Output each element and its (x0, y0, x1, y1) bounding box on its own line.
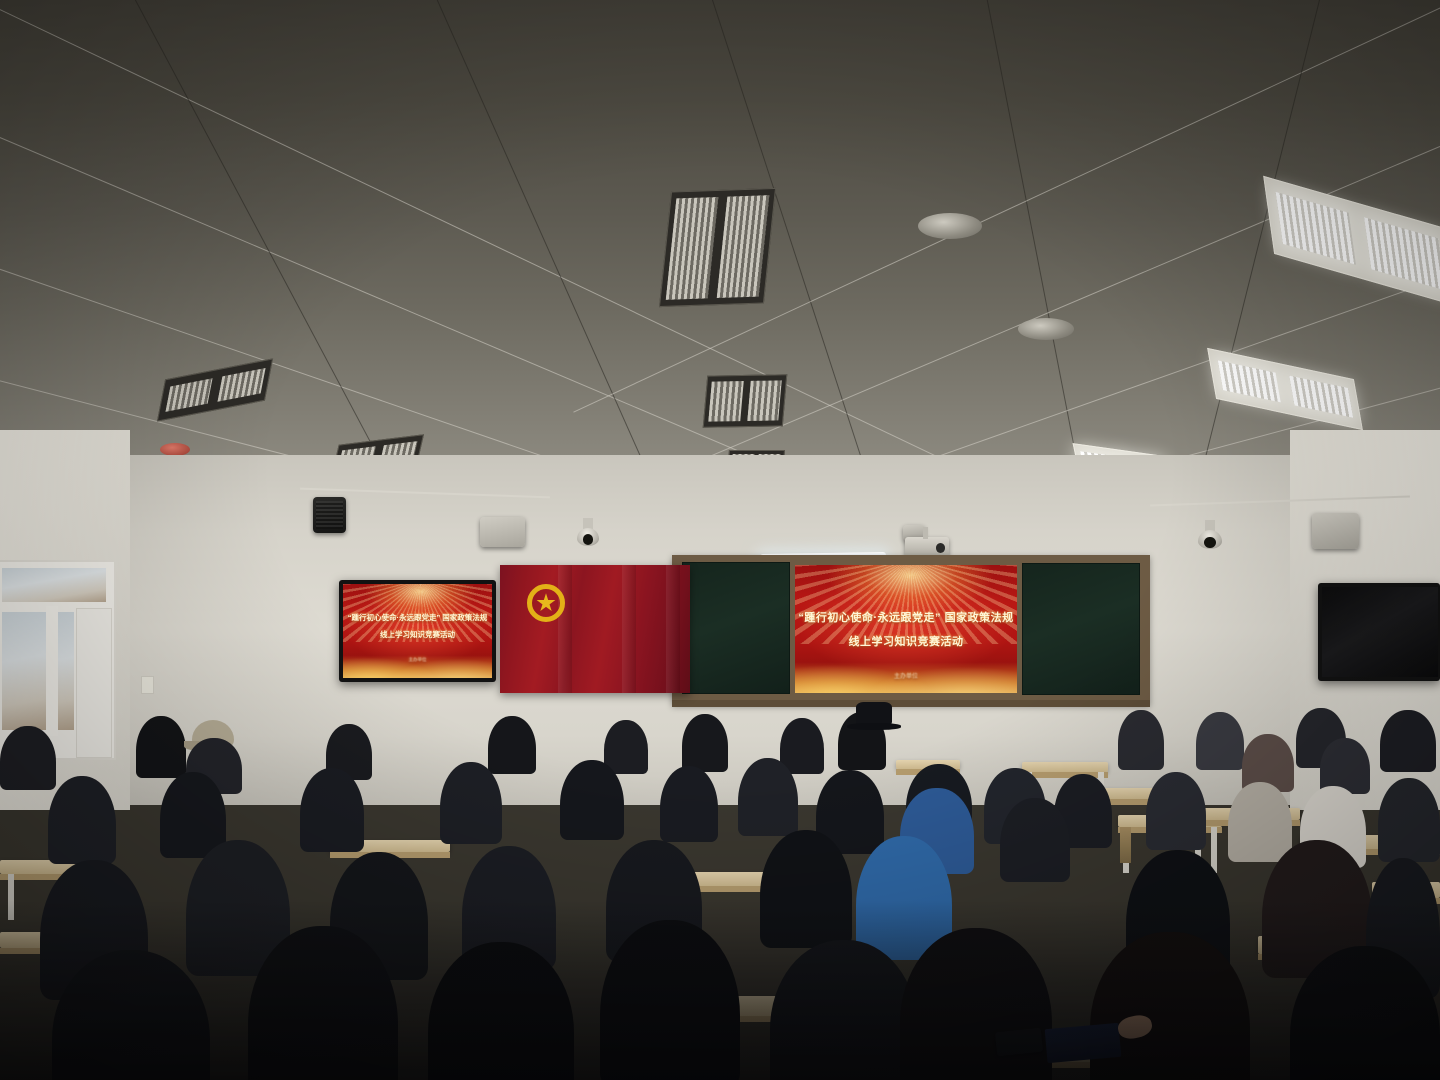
student (738, 758, 798, 836)
notebook (1045, 1023, 1122, 1063)
right-board-panel (1022, 563, 1140, 695)
youth-league-flag (500, 565, 690, 693)
ceiling-grid-line (0, 0, 998, 486)
dome-security-camera (1198, 520, 1222, 549)
student (440, 762, 502, 844)
student (48, 776, 116, 864)
wall-monitor-screen (1322, 587, 1438, 677)
smoke-detector (918, 213, 982, 239)
left-board-panel (682, 562, 790, 694)
wall-led-display-screen: “踵行初心使命·永远跟党走” 国家政策法规 线上学习知识竞赛活动 主办单位 (343, 584, 492, 678)
student (1378, 778, 1440, 862)
student-audience (0, 690, 1440, 1080)
student (136, 716, 186, 778)
dome-security-camera (577, 518, 599, 546)
student (1118, 710, 1164, 770)
student (300, 768, 364, 852)
slide-footer: 主办单位 (795, 671, 1017, 680)
smartphone (995, 1028, 1043, 1057)
slide-headline: “踵行初心使命·永远跟党走” 国家政策法规 (343, 612, 492, 623)
student (1000, 798, 1070, 882)
student (1196, 712, 1244, 770)
student (604, 720, 648, 774)
troffer-light (659, 188, 776, 307)
slide-footer: 主办单位 (343, 657, 492, 663)
student (770, 940, 918, 1080)
student (600, 920, 740, 1080)
smoke-detector (1018, 318, 1074, 340)
student (1380, 710, 1436, 772)
star-icon (536, 593, 556, 613)
troffer-light (157, 358, 273, 421)
troffer-light (1263, 176, 1440, 306)
wall-speaker (1312, 513, 1359, 549)
star-in-circle-emblem (527, 584, 565, 622)
slide-ribbon-graphic (343, 650, 492, 678)
student (560, 760, 624, 840)
student (1146, 772, 1206, 850)
student (780, 718, 824, 774)
student (760, 830, 852, 948)
slide-headline: “踵行初心使命·永远跟党走” 国家政策法规 (795, 609, 1017, 625)
troffer-light (1207, 348, 1363, 430)
student (0, 726, 56, 790)
window-transom-glass (2, 568, 106, 602)
wall-speaker (313, 497, 346, 533)
projection-screen: “踵行初心使命·永远跟党走” 国家政策法规 线上学习知识竞赛活动 主办单位 (795, 565, 1017, 693)
student (660, 766, 718, 842)
wall-air-conditioner (480, 517, 525, 547)
classroom-photo-scene: “踵行初心使命·永远跟党走” 国家政策法规 线上学习知识竞赛活动 主办单位 “踵… (0, 0, 1440, 1080)
student (488, 716, 536, 774)
troffer-light (703, 374, 788, 427)
student (1228, 782, 1292, 862)
student (682, 714, 728, 772)
slide-subhead: 线上学习知识竞赛活动 (795, 633, 1017, 649)
bucket-hat (856, 702, 892, 726)
slide-subhead: 线上学习知识竞赛活动 (343, 629, 492, 640)
